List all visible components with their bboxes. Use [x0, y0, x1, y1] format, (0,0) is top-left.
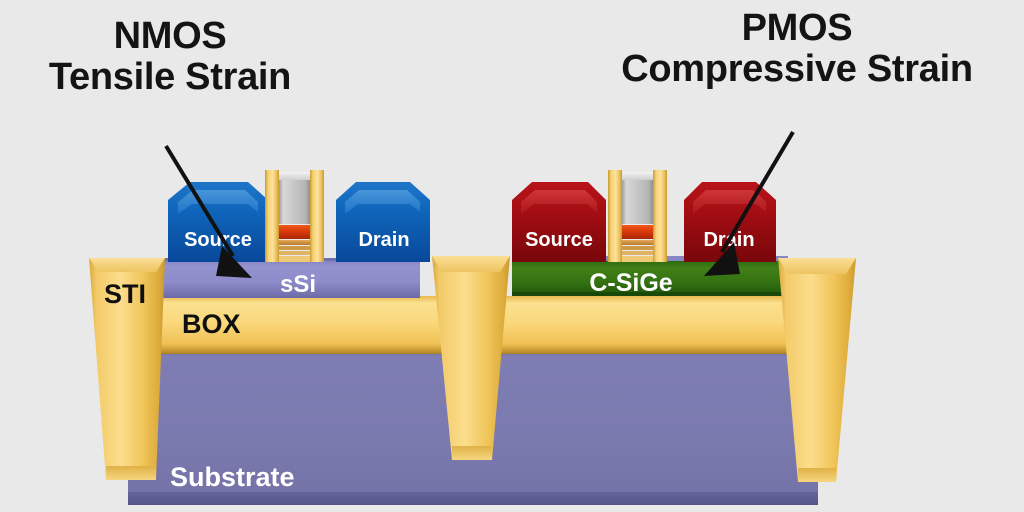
csige-layer-label: C-SiGe [589, 269, 672, 297]
pmos-source-label: Source [525, 229, 593, 251]
pmos-gate-oxide [622, 225, 653, 239]
box-layer-label: BOX [182, 309, 241, 339]
pmos-gate-spacer-left [608, 170, 622, 262]
nmos-gate-spacer-left [265, 170, 279, 262]
pmos-title-line2: Compressive Strain [570, 49, 1024, 90]
ssi-layer-label: sSi [280, 271, 316, 298]
diagram-canvas: Source Drain Source Drain sSi C-SiGe BOX… [0, 0, 1024, 512]
substrate-layer-label: Substrate [170, 462, 295, 492]
nmos-gate-stack[interactable] [265, 170, 324, 262]
pmos-annotation-title: PMOS Compressive Strain [570, 8, 1024, 90]
nmos-gate-spacer-right [310, 170, 324, 262]
nmos-title-line2: Tensile Strain [0, 57, 340, 98]
nmos-title-line1: NMOS [114, 15, 227, 57]
pmos-gate-spacer-right [653, 170, 667, 262]
pmos-gate-stack[interactable] [608, 170, 667, 262]
nmos-drain-label: Drain [358, 229, 409, 251]
nmos-gate-oxide [279, 225, 310, 239]
nmos-annotation-title: NMOS Tensile Strain [0, 16, 340, 98]
pmos-title-line1: PMOS [742, 7, 853, 49]
sti-label: STI [104, 279, 146, 309]
